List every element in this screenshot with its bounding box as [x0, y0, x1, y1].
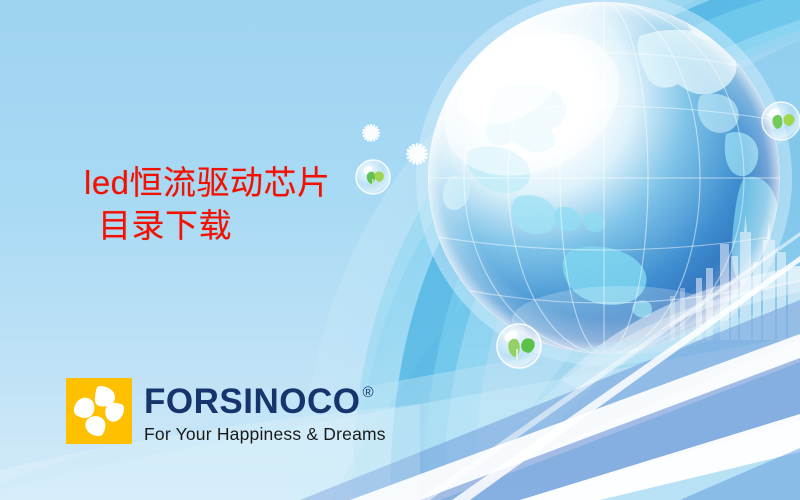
logo-wordmark-text: FORSINOCO: [144, 384, 360, 419]
bubble-sprout-top: [356, 160, 390, 194]
company-logo: FORSINOCO ® For Your Happiness & Dreams: [66, 378, 386, 445]
headline-text: led恒流驱动芯片 目录下载: [84, 162, 331, 248]
bubble-sprout-mid: [497, 324, 541, 368]
four-petal-flower-icon: [66, 378, 132, 444]
logo-wordmark: FORSINOCO ®: [144, 384, 386, 419]
logo-tagline: For Your Happiness & Dreams: [144, 424, 386, 445]
bubble-sprout-right: [762, 102, 800, 140]
sparkle-star-right: [406, 143, 428, 165]
logo-text-block: FORSINOCO ® For Your Happiness & Dreams: [144, 378, 386, 445]
registered-trademark-icon: ®: [362, 385, 374, 400]
promotional-banner: led恒流驱动芯片 目录下载 FORSINOCO ® For Your Happ…: [0, 0, 800, 500]
earth-globe: [416, 0, 792, 366]
headline-line-2: 目录下载: [84, 205, 331, 248]
headline-line-1: led恒流驱动芯片: [84, 162, 331, 205]
diagonal-light-stripes: [300, 232, 800, 500]
city-skyline-silhouette: [670, 214, 800, 340]
sparkle-star-left: [362, 124, 380, 142]
